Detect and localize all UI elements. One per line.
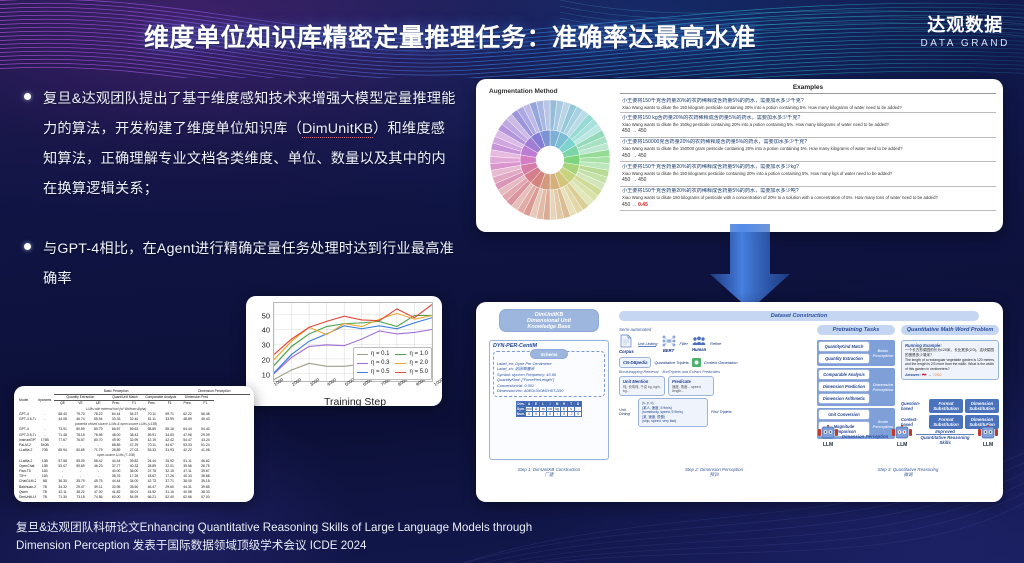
sunburst-chart-icon [487,97,613,223]
dim-table-cell: mol [526,407,533,412]
cell-value: 62.66 [179,495,197,500]
pipeline-label-bert: BERT [662,348,676,353]
pretraining-task[interactable]: Comparable Analysis [818,369,870,380]
chart-y-tick: 50 [262,311,270,320]
pipeline-label-unit: Unit Linking [638,342,658,346]
pipeline-label-filter: Filter [680,342,688,346]
table-subgroup-header: Comparable Analysis [143,395,179,401]
dim-table-cell: 1 [554,412,561,417]
pipeline-row: Corpus Unit Linking [619,334,809,354]
bullet-list: 复旦&达观团队提出了基于维度感知技术来增强大模型定量推理能力的算法，开发构建了维… [16,84,456,316]
cell-value: 73.18 [72,495,90,500]
unit-mention-values: 吨, 长吨吨, 千克 kg, kg/h, kg... [623,384,661,393]
table-col-model: Model [18,395,36,407]
footer-line-2: Dimension Perception 发表于国际数据领域顶级学术会议 ICD… [16,537,716,555]
pretraining-task[interactable]: QuantityKind Match [818,341,870,352]
dataset-construction-title: Dataset Construction [619,311,979,321]
find-triplets-label: findTriplets and Extract Predicates [662,370,720,374]
augmentation-dimension-substitution[interactable]: Dimension Substitution [965,399,999,413]
bullet-dot-icon [24,243,31,250]
dim-table-cell: 0 [526,412,533,417]
cell-value: 66.21 [143,495,161,500]
chart-x-tick: 10000 [433,376,442,387]
chart-y-tick: 30 [262,341,270,350]
example-cn: 小王要将150 kg含药量20%的农药稀释成含药量5%的药水，需要加水多少千克? [622,115,994,122]
llm-label-1: LLM [817,442,839,448]
pipeline-label-corpus: Corpus [619,349,634,354]
dim-table-cell: 0 [575,412,582,417]
running-example-en: The length of a rectangular vegetable ga… [905,358,995,372]
pretraining-task[interactable]: Quantity Extraction [818,353,870,364]
table-subgroup-header: Quant/Unit Match [107,395,143,401]
down-arrow-icon [690,224,810,310]
generation-gear-icon [692,358,701,367]
chart-y-tick: 10 [262,370,270,379]
llm-robot-1: LLM [817,425,839,448]
chart-x-axis-label: Training Step [273,396,437,406]
example-answer: 450 → 0.45 [622,202,994,209]
bullet-text-2: 与GPT-4相比，在Agent进行精确定量任务处理时达到行业最高准确率 [43,234,456,294]
answer-new-value: 7200 [933,372,942,377]
semi-automated-label: Semi-automated [619,327,809,332]
logo-text-en: DATA GRAND [920,37,1010,51]
legend-label: η = 2.0 [409,359,428,368]
cell-value: 54.99 [125,495,143,500]
pretraining-task[interactable]: Dimension Prediction [818,381,870,392]
pretraining-group-label: Basic Perception [872,348,894,358]
robot-icon [978,425,998,441]
legend-item: η = 0.3 [357,359,390,368]
legend-swatch [357,354,368,356]
architecture-diagram-panel[interactable]: DimUnitKB Dimensional Unit Knowledge Bas… [476,302,1003,502]
robot-icon [892,425,912,441]
chart-x-ticks: 1000200030004000500060007000800090001000… [273,383,433,393]
answer-label: Answer: [905,372,921,377]
footer-line-1: 复旦&达观团队科研论文Enhancing Quantitative Reason… [16,519,716,537]
bullet-dot-icon [24,93,31,100]
llm-flow-row: LLM Dimension Perception LLM Improved Qu… [817,425,999,448]
dim-table-cell: 0 [561,412,568,417]
step-1-caption: Step 1: DimUnitKB Construction 厂建 [489,467,609,478]
bootstrapping-label: Bootstrapping Retrieval [619,370,658,374]
dimunitkb-term: DimUnitKB [302,121,373,138]
dimension-vector-table: Dim.AELIMHTDSym.molAmcdkgKs-Num.000010-2… [516,401,582,417]
qmwp-title: Quantitative Math Word Problem [901,325,999,335]
table-row: DimUnitLLM7B71.3073.1874.5660.0054.9966.… [18,495,250,500]
running-example-box: Running Example: 一个长方形菜园的长为120米，长比宽多(2/3… [901,340,999,380]
example-cn: 小王要将150千克含药量20%的农药稀释成含药量5%的药水，需要加水多少吨? [622,188,994,195]
find-triplets-2-label: Find Triplets [711,410,732,414]
unit-dining-label: Unit Dining [619,408,635,416]
table-col-params: #params [36,395,54,407]
legend-label: η = 0.5 [371,368,390,377]
cell-model: ChatGLM-2 [18,479,36,484]
dim-table-label: Sym. [516,407,525,412]
slide-header: 维度单位知识库精密定量推理任务：准确率达最高水准 达观数据 DATA GRAND [0,0,1024,78]
llm-label-3: LLM [977,442,999,448]
legend-swatch [357,363,368,365]
pipeline-label-human: Human [692,347,706,352]
cell-value: 60.00 [107,495,125,500]
dim-table-cell: 0 [547,412,554,417]
schema-field-list: Label_en: Dyne Per CentimetreLabel_zh: 达… [497,361,601,393]
cell-params: 7B [36,495,54,500]
results-table-panel[interactable]: Basic PerceptionDimension PerceptionMode… [14,386,254,502]
pretraining-group: QuantityKind MatchQuantity ExtractionBas… [817,340,895,366]
accuracy-chart-panel[interactable]: Accuracy(%) 1020304050 10002000300040005… [246,296,442,406]
cn-dbpedia-box[interactable]: CN-DBpedia [619,357,651,368]
results-table: Basic PerceptionDimension PerceptionMode… [18,389,250,500]
list-item: 与GPT-4相比，在Agent进行精确定量任务处理时达到行业最高准确率 [16,234,456,294]
chart-y-ticks: 1020304050 [251,302,272,382]
example-row: 小王要将150千克含药量20%的农药稀释成含药量5%的药水，需要加水多少吨?Xi… [620,187,996,211]
logo-text-cn: 达观数据 [920,14,1010,36]
unit-mention-box: Unit Mention 吨, 长吨吨, 千克 kg, kg/h, kg... [619,376,665,396]
predicate-box: Predicate 速度, 角度... speed, length... [668,376,714,396]
legend-item: η = 1.0 [395,350,428,359]
cell-value: 52.40 [161,495,179,500]
cell-value: 74.56 [89,495,107,500]
augmentation-format-substitution[interactable]: Format Substitution [929,399,963,413]
legend-swatch [357,372,368,374]
legend-label: η = 0.3 [371,359,390,368]
llm-robot-2: LLM [891,425,913,448]
pretraining-task[interactable]: Unit Conversion [818,409,870,420]
examples-header: Examples [620,84,996,93]
legend-label: η = 5.0 [409,368,428,377]
context-generation-label: Context Generation [704,360,738,365]
augmentation-row: Question-basedFormat SubstitutionDimensi… [901,399,999,413]
quant-triplets-label: Quantitative Triplets [654,360,688,365]
dim-table-row: Sym.molAmcdkgKs- [516,407,581,412]
bullet-text-1: 复旦&达观团队提出了基于维度感知技术来增强大模型定量推理能力的算法，开发构建了维… [43,84,456,204]
running-example-cn: 一个长方形菜园的长为120米，长比宽多(2/3)，这块菜园的宽是多少毫米？ [905,348,995,358]
flow-label-2: Improved Quantitative Reasoning Skills [916,429,974,445]
chart-y-tick: 40 [262,326,270,335]
schema-field: DimensionVec: A0E0L0X0M1H0T-2D0 [497,388,601,393]
cell-value: 57.00 [196,495,214,500]
example-row: 小王要将150 kg含药量20%的农药稀释成含药量5%的药水，需要加水多少千克?… [620,113,996,137]
example-cn: 小王要将150千克含药量20%的农药稀释成含药量5%的药水，需要加水多少kg? [622,164,994,171]
example-row: 小王要将150千克含药量20%的农药稀释成含药量5%的药水，需要加水多少kg?X… [620,162,996,186]
pretraining-tasks-title: Pretraining Tasks [817,325,895,335]
predicate-values: 速度, 角度... speed, length... [672,384,710,393]
example-cn: 小王要将150千克含药量20%的农药稀释成含药量5%的药水，需要加水多少千克? [622,98,994,105]
schema-label: Schema [530,349,568,359]
kb-title-badge: DimUnitKB Dimensional Unit Knowledge Bas… [499,309,599,332]
sunburst-title: Augmentation Method [489,88,558,95]
step-2-caption: Step 2: Dimension Perception 预训 [619,467,809,478]
pretraining-group-label: Dimension Perception [872,382,894,392]
example-row: 小王要将150000克含药量20%的农药稀释成含药量5%的药水，需要加水多少千克… [620,138,996,162]
legend-item: η = 0.5 [357,368,390,377]
dim-table-cell: 0 [533,412,540,417]
example-answer: 450 → 450 [622,153,994,160]
answer-old-value: 72 [922,372,926,377]
legend-swatch [395,372,406,374]
example-cn: 小王要将150000克含药量20%的农药稀释成含药量5%的药水，需要加水多少千克… [622,139,994,146]
sunburst-chart-area: Augmentation Method [483,84,616,227]
kb-title-sub2: Knowledge Base [504,324,594,330]
cell-value: 71.30 [54,495,72,500]
pretraining-group: Comparable AnalysisDimension PredictionD… [817,368,895,406]
dim-table-label: Dim. [516,402,525,407]
examples-table: Examples 小王要将150千克含药量20%的农药稀释成含药量5%的药水，需… [616,84,996,227]
example-answer: 450 → 450 [622,128,994,135]
page-title: 维度单位知识库精密定量推理任务：准确率达最高水准 [0,16,900,60]
dim-table-label: Num. [516,412,525,417]
chart-legend: η = 0.1η = 1.0η = 0.3η = 2.0η = 0.5η = 5… [353,347,432,380]
legend-swatch [395,354,406,356]
llm-robot-3: LLM [977,425,999,448]
list-item: 复旦&达观团队提出了基于维度感知技术来增强大模型定量推理能力的算法，开发构建了维… [16,84,456,204]
robot-icon [818,425,838,441]
flow-label-1: Dimension Perception [842,434,888,439]
legend-item: η = 2.0 [395,359,428,368]
cell-model: DimUnitLLM [18,495,36,500]
corpus-document-icon [620,334,632,348]
dim-table-row: Num.000010-20 [516,412,581,417]
llm-label-2: LLM [891,442,913,448]
pipeline-label-refine: Refine [710,342,721,346]
step-3-caption: Step 3: Quantitative Reasoning 微调 [817,467,999,478]
brand-logo: 达观数据 DATA GRAND [920,14,1010,51]
triplet-example-box: (s, p, o) (某人, 速度, 9.9m/s) (somebody, sp… [638,398,708,427]
footer-caption: 复旦&达观团队科研论文Enhancing Quantitative Reason… [16,519,716,555]
legend-label: η = 1.0 [409,350,428,359]
chart-y-tick: 20 [262,355,270,364]
legend-label: η = 0.1 [371,350,390,359]
examples-panel[interactable]: Augmentation Method Examples 小王要将150千克含药… [476,79,1003,232]
example-en: Xiao Wang wants to dilute the 150 kilogr… [622,105,994,111]
cell-model: GPT-3.5-Turbo [18,417,36,422]
dim-table-cell: -2 [568,412,575,417]
dim-table-cell: 0 [540,412,547,417]
example-answer: 450 → 450 [622,177,994,184]
bert-network-icon [662,335,676,347]
human-reviewers-icon [692,336,706,346]
legend-item: η = 0.1 [357,350,390,359]
example-row: 小王要将150千克含药量20%的农药稀释成含药量5%的药水，需要加水多少千克?X… [620,96,996,113]
legend-swatch [395,363,406,365]
legend-item: η = 5.0 [395,368,428,377]
augmentation-label: Question-based [901,401,927,411]
pretraining-task[interactable]: Dimension Arithmetic [818,393,870,404]
